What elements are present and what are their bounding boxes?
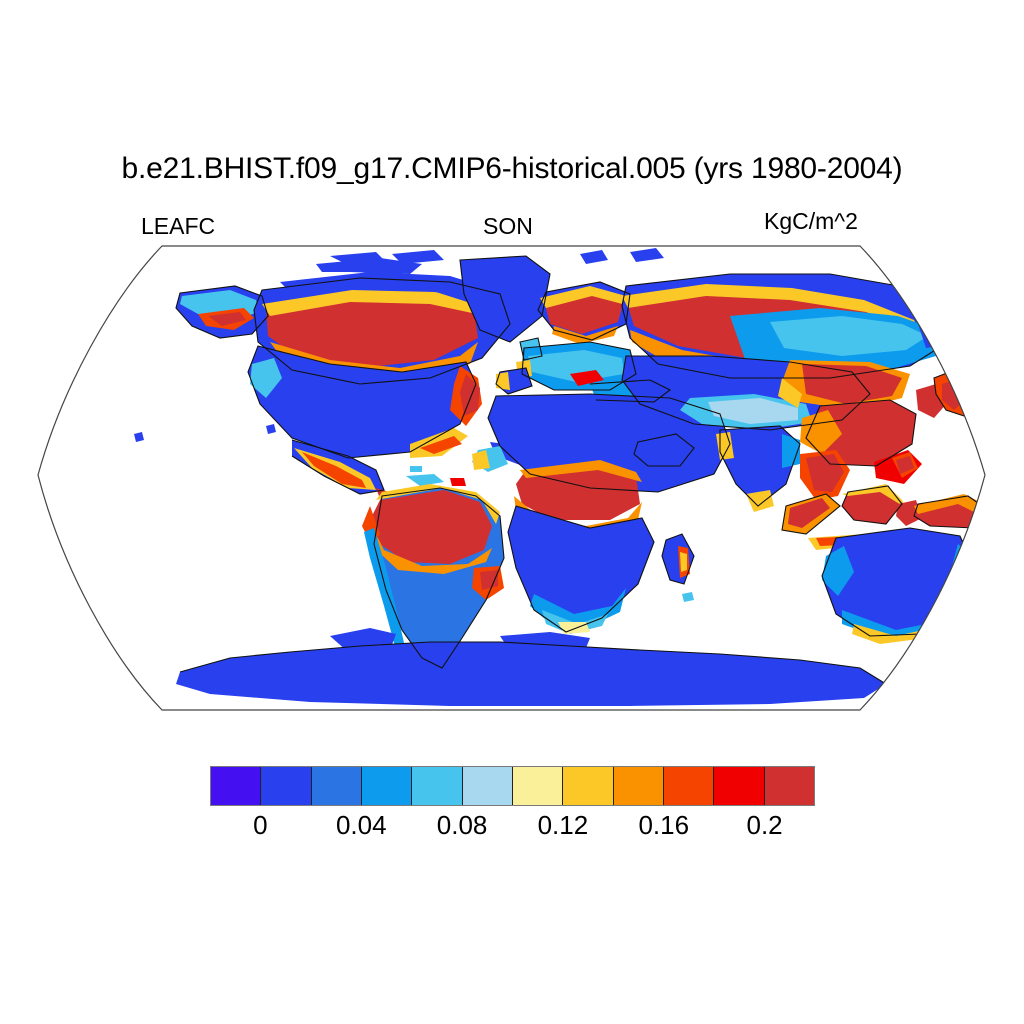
- season-label: SON: [483, 213, 533, 240]
- figure-canvas: b.e21.BHIST.f09_g17.CMIP6-historical.005…: [0, 0, 1024, 1024]
- robinson-map-svg: [30, 238, 994, 724]
- colorbar-cell-2: [312, 767, 362, 805]
- colorbar-swatches: [210, 766, 815, 806]
- colorbar: 00.040.080.120.160.2: [210, 766, 815, 846]
- colorbar-cell-11: [765, 767, 814, 805]
- colorbar-cell-7: [563, 767, 613, 805]
- colorbar-cell-3: [362, 767, 412, 805]
- colorbar-cell-4: [412, 767, 462, 805]
- colorbar-tick-0.16: 0.16: [638, 810, 689, 841]
- figure-title: b.e21.BHIST.f09_g17.CMIP6-historical.005…: [0, 152, 1024, 186]
- map-data-layer: [30, 238, 994, 724]
- colorbar-cell-0: [211, 767, 261, 805]
- colorbar-tick-0.12: 0.12: [538, 810, 589, 841]
- colorbar-tick-labels: 00.040.080.120.160.2: [210, 806, 815, 846]
- colorbar-cell-9: [664, 767, 714, 805]
- colorbar-tick-0.08: 0.08: [437, 810, 488, 841]
- colorbar-cell-10: [714, 767, 764, 805]
- colorbar-cell-8: [614, 767, 664, 805]
- world-map: [30, 238, 994, 724]
- colorbar-cell-5: [463, 767, 513, 805]
- colorbar-cell-1: [261, 767, 311, 805]
- colorbar-tick-0: 0: [253, 810, 267, 841]
- units-label: KgC/m^2: [764, 208, 858, 235]
- colorbar-tick-0.2: 0.2: [747, 810, 783, 841]
- colorbar-tick-0.04: 0.04: [336, 810, 387, 841]
- colorbar-cell-6: [513, 767, 563, 805]
- variable-label: LEAFC: [141, 213, 215, 240]
